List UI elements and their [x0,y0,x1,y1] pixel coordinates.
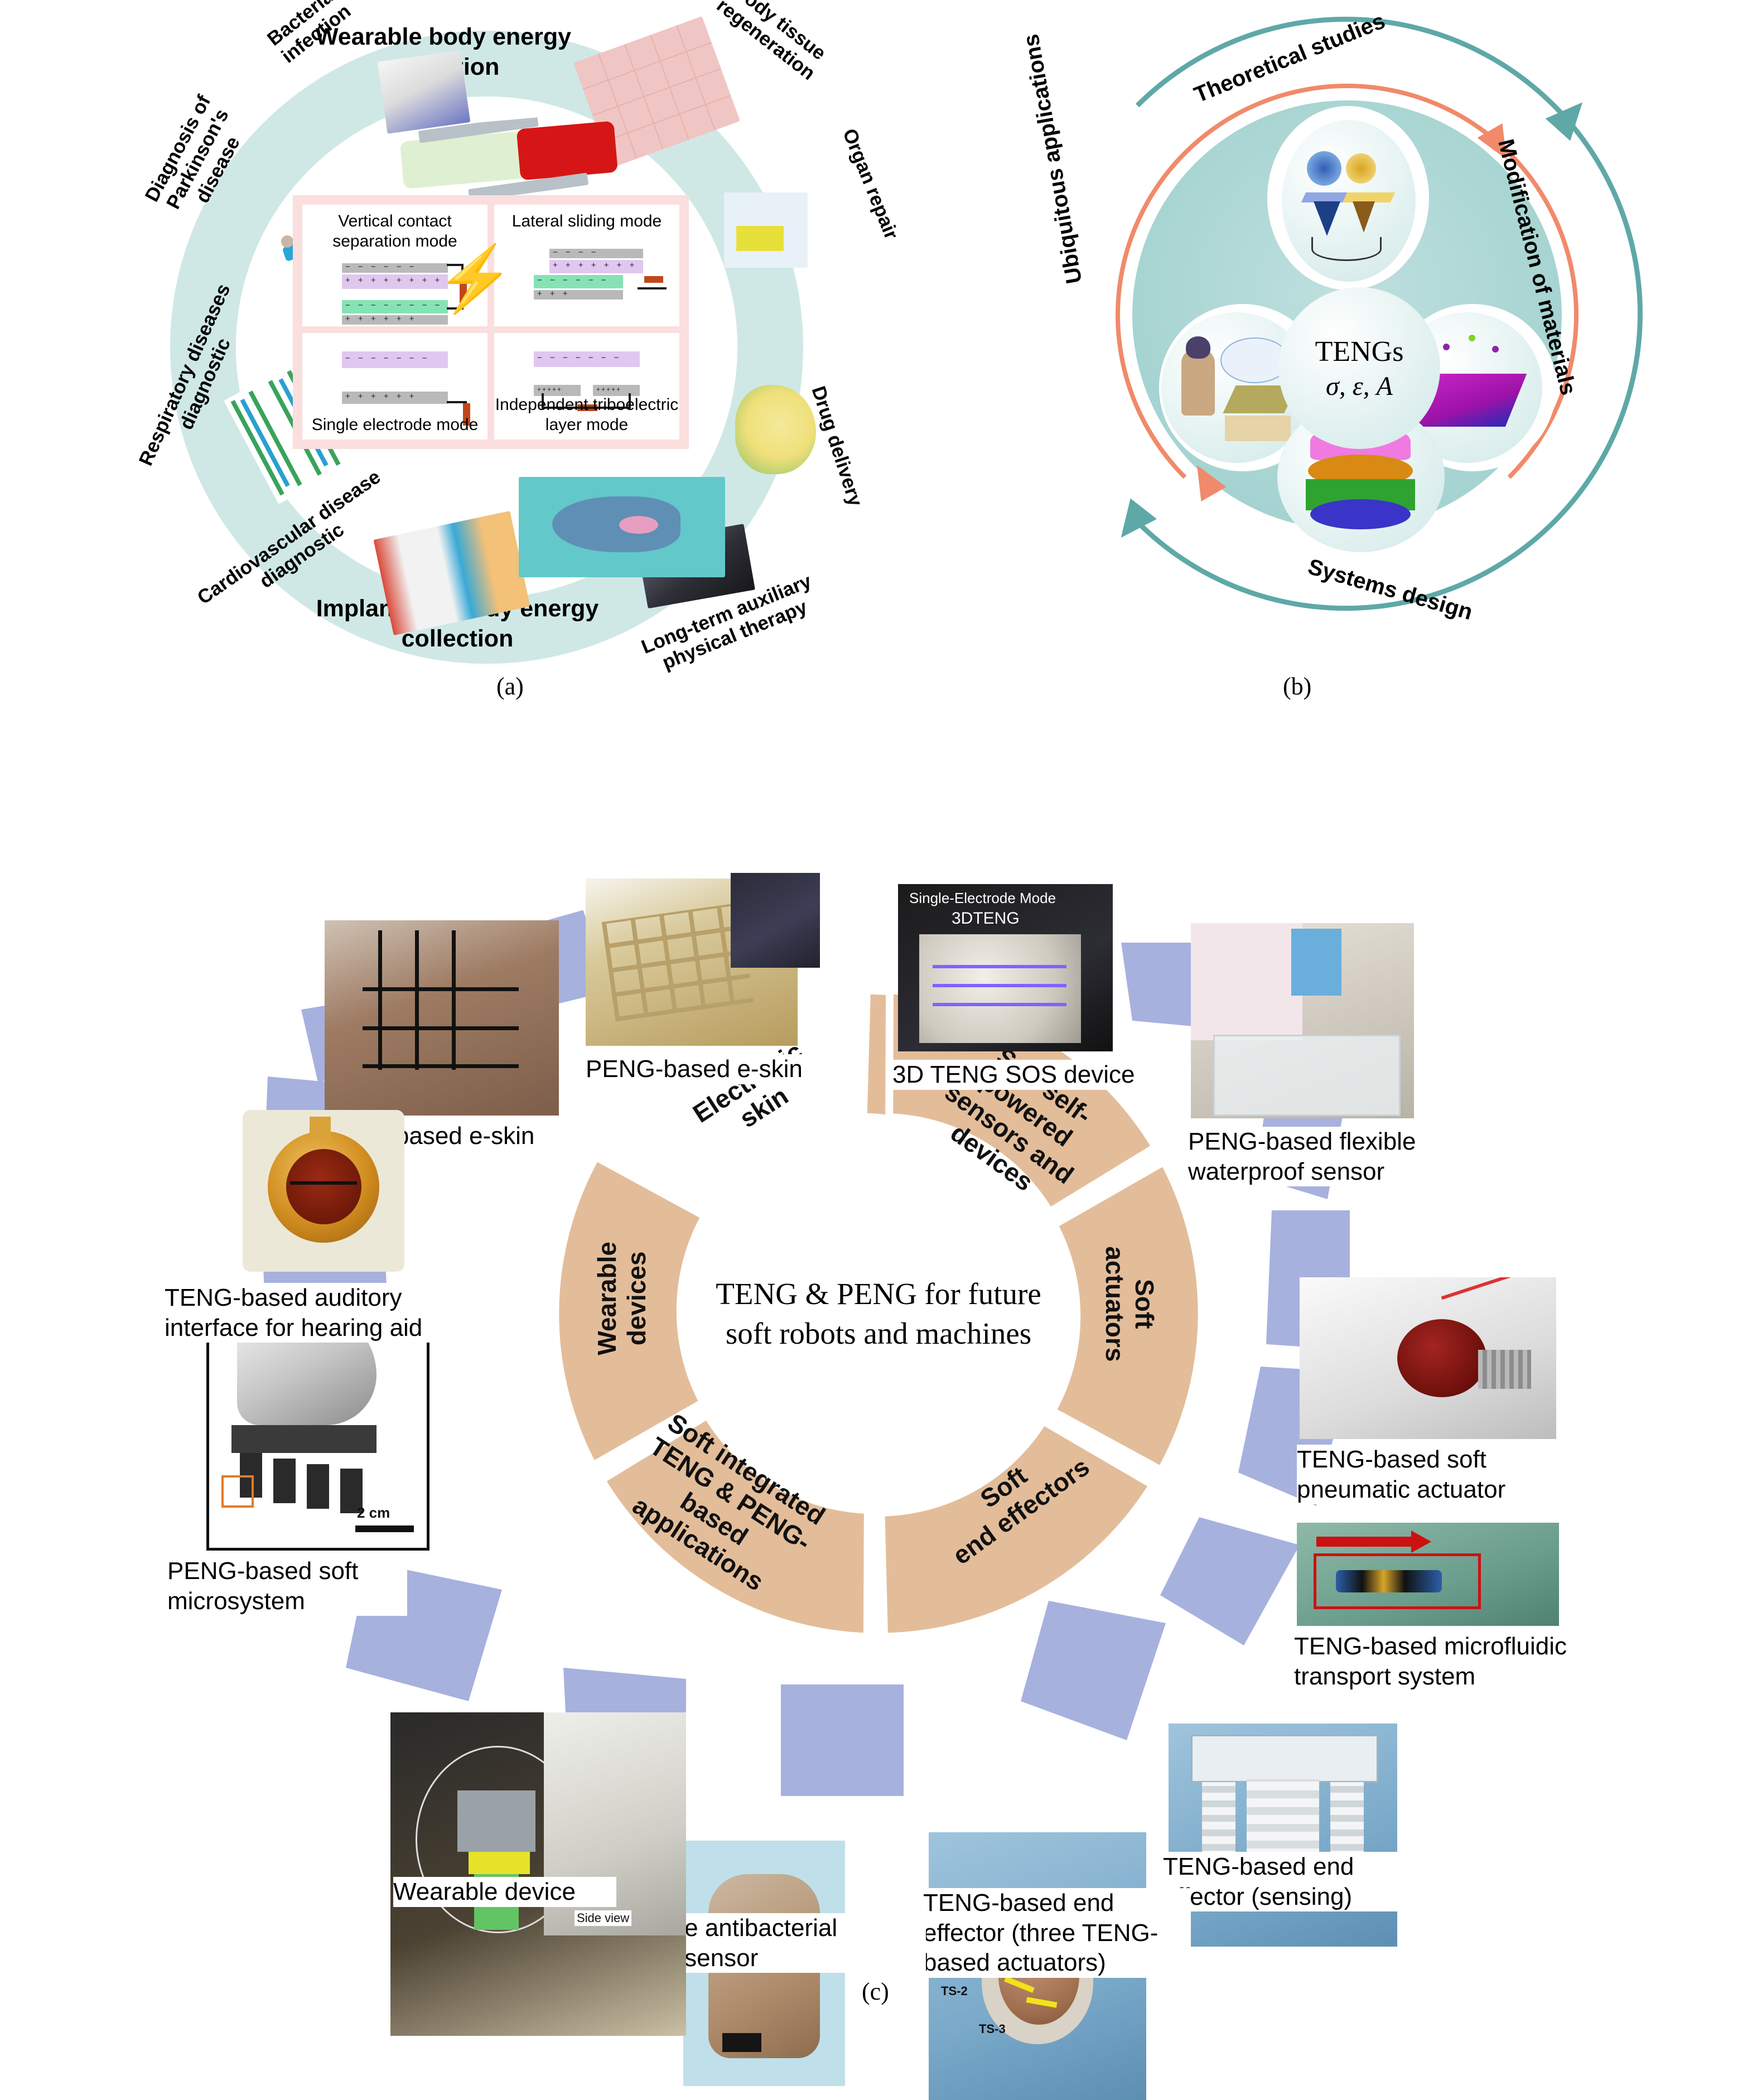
mode-independent-triboelectric-layer: − − − − − − − +++++ +++++ Independent tr… [491,330,683,443]
overlay-3dteng: 3DTENG [952,909,1020,928]
panel-c: TENG & PENG for future soft robots and m… [0,720,1757,2011]
photo-peng-waterproof-sensor [1191,923,1414,1118]
caption-peng-waterproof-sensor: PENG-based flexible waterproof sensor [1188,1127,1478,1186]
photo-organ-repair-xray [724,192,808,268]
overlay-ts-2: TS-2 [941,1984,968,1998]
bubble-theoretical-studies [1282,120,1416,282]
overlay-ts-3: TS-3 [979,2022,1006,2036]
mode-single-electrode: − − − − − − − + + + + + + Single electro… [299,330,491,443]
panel-b-center-subtitle: σ, ε, A [1315,370,1404,403]
photo-teng-auditory-interface [243,1110,404,1272]
bubble-tengs-center: TENGs σ, ε, A [1278,287,1440,449]
caption-microfluidic-transport-system: TENG-based microfluidic transport system [1294,1631,1629,1691]
caption-teng-auditory-interface: TENG-based auditory interface for hearin… [165,1283,460,1343]
panel-b: TENGs σ, ε, A Theoretical studies Modifi… [948,0,1740,703]
panel-c-caption: (c) [862,1977,889,2006]
overlay-side-view: Side view [575,1910,631,1926]
donut-center: TENG & PENG for future soft robots and m… [703,1138,1054,1489]
ring-label-organ-repair: Organ repair [833,113,908,255]
caption-end-effector-sensing: TENG-based end effector (sensing) [1163,1852,1425,1911]
mode-label: Single electrode mode [312,415,479,435]
photo-peng-e-skin-inset [731,873,820,968]
panel-c-center-text: TENG & PENG for future soft robots and m… [703,1274,1054,1354]
photo-microfluidic-transport-system [1297,1523,1559,1626]
caption-peng-based-e-skin: PENG-based e-skin [586,1054,826,1084]
caption-peng-based-soft-microsystem: PENG-based soft microsystem [167,1556,407,1616]
mode-label: Lateral sliding mode [512,211,662,231]
mode-label: Independent triboelectric layer mode [494,395,679,435]
caption-soft-pneumatic-actuator: TENG-based soft pneumatic actuator [1297,1445,1559,1504]
photo-drug-delivery-cell [735,385,816,474]
panel-a-caption: (a) [496,672,524,701]
photo-implant-rat-diagram [519,477,725,577]
photo-soft-pneumatic-actuator [1300,1277,1556,1439]
overlay-single-electrode-mode: Single-Electrode Mode [909,890,1056,907]
cycle-label-ubiquitous-applications: Ubiquitous applications [1019,32,1087,286]
caption-wearable-device: Wearable device [393,1877,616,1907]
panel-a: Wearable body energy collection Implanta… [73,0,926,703]
mode-lateral-sliding: Lateral sliding mode − − − − + + + + + +… [491,201,683,330]
photo-teng-based-e-skin [325,920,559,1116]
panel-b-caption: (b) [1283,672,1311,701]
overlay-scale-2cm: 2 cm [357,1504,390,1522]
photo-bacterial-device [378,50,471,134]
caption-3d-teng-sos-device: 3D TENG SOS device [892,1060,1155,1090]
segment-label-soft-actuators: Soft actuators [1100,1220,1159,1388]
teng-modes-box: Vertical contact separation mode − − − −… [293,195,689,449]
panel-b-center-title: TENGs [1315,334,1404,370]
photo-end-effector-sensing [1169,1724,1397,1947]
segment-label-wearable-devices: Wearable devices [592,1215,651,1382]
photo-3d-teng-sos-device: Single-Electrode Mode 3DTENG [898,884,1113,1051]
caption-end-effector-three-actuators: TENG-based end effector (three TENG- bas… [923,1888,1191,1978]
photo-wearable-device: Side view [390,1712,686,2036]
